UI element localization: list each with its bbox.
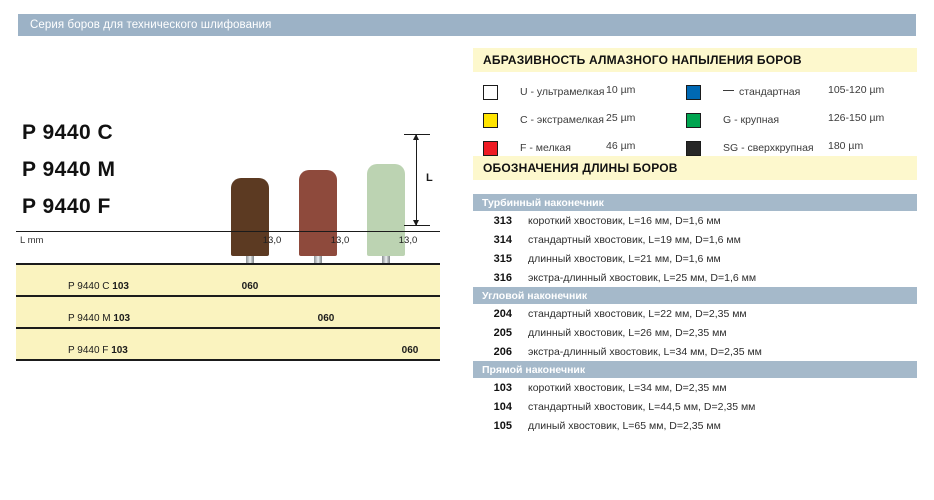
code-prefix: P 9440 F: [68, 345, 108, 356]
lengths-row-code: 103: [482, 382, 528, 394]
dimension-label: L: [426, 172, 433, 184]
lengths-row-description: короткий хвостовик, L=34 мм, D=2,35 мм: [528, 382, 727, 394]
lengths-row-description: экстра-длинный хвостовик, L=34 мм, D=2,3…: [528, 346, 762, 358]
table-row: P 9440 F 103 060: [16, 329, 440, 361]
color-swatch-c: [483, 113, 498, 128]
code-suffix: 103: [112, 281, 129, 292]
lengths-row: 103короткий хвостовик, L=34 мм, D=2,35 м…: [473, 378, 917, 397]
lengths-row: 314стандартный хвостовик, L=19 мм, D=1,6…: [473, 230, 917, 249]
table-row-size-m: 060: [304, 313, 348, 324]
legend-value-g: 126-150 µm: [828, 112, 884, 124]
legend-label-standard-text: стандартная: [739, 86, 800, 98]
dimension-line: [416, 134, 417, 226]
lengths-title: ОБОЗНАЧЕНИЯ ДЛИНЫ БОРОВ: [473, 156, 917, 180]
lengths-row-description: длиный хвостовик, L=65 мм, D=2,35 мм: [528, 420, 721, 432]
lengths-row-code: 314: [482, 234, 528, 246]
color-swatch-f: [483, 141, 498, 156]
legend-item-standard: стандартная: [686, 84, 800, 100]
lengths-table: Турбинный наконечник313короткий хвостови…: [473, 194, 917, 435]
lengths-row-description: стандартный хвостовик, L=19 мм, D=1,6 мм: [528, 234, 741, 246]
legend-value-standard: 105-120 µm: [828, 84, 884, 96]
lengths-row: 316экстра-длинный хвостовик, L=25 мм, D=…: [473, 268, 917, 287]
lengths-group-header: Угловой наконечник: [473, 287, 917, 304]
product-code-list: P 9440 C P 9440 M P 9440 F: [22, 121, 116, 232]
bur-illustration-m: [296, 170, 340, 278]
table-row: P 9440 C 103 060: [16, 265, 440, 297]
table-row: P 9440 M 103 060: [16, 297, 440, 329]
abrasiveness-legend: U - ультрамелкая 10 µm C - экстрамелкая …: [473, 84, 917, 156]
lengths-group-header: Прямой наконечник: [473, 361, 917, 378]
code-suffix: 103: [111, 345, 128, 356]
legend-value-c: 25 µm: [606, 112, 635, 124]
legend-label-standard: стандартная: [723, 86, 800, 98]
lengths-row-description: стандартный хвостовик, L=22 мм, D=2,35 м…: [528, 308, 747, 320]
length-value-c: 13,0: [250, 235, 294, 246]
bur-illustration-f: [364, 164, 408, 278]
product-panel: P 9440 C P 9440 M P 9440 F L L mm 13,0 1…: [0, 45, 455, 465]
code-suffix: 103: [113, 313, 130, 324]
legend-item-c: C - экстрамелкая: [483, 112, 604, 128]
product-code-m: P 9440 M: [22, 158, 116, 182]
table-row-code-c: P 9440 C 103: [68, 281, 129, 292]
bur-illustrations: [228, 130, 428, 278]
lengths-row: 315длинный хвостовик, L=21 мм, D=1,6 мм: [473, 249, 917, 268]
product-code-f: P 9440 F: [22, 195, 116, 219]
product-code-c: P 9440 C: [22, 121, 116, 145]
length-unit-label: L mm: [20, 235, 43, 246]
lengths-row: 105длиный хвостовик, L=65 мм, D=2,35 мм: [473, 416, 917, 435]
code-prefix: P 9440 M: [68, 313, 111, 324]
lengths-row: 313короткий хвостовик, L=16 мм, D=1,6 мм: [473, 211, 917, 230]
table-row-size-c: 060: [228, 281, 272, 292]
lengths-row-code: 205: [482, 327, 528, 339]
lengths-row-code: 204: [482, 308, 528, 320]
page-title-bar: Серия боров для технического шлифования: [18, 14, 916, 36]
lengths-row: 205длинный хвостовик, L=26 мм, D=2,35 мм: [473, 323, 917, 342]
legend-label-u: U - ультрамелкая: [520, 86, 604, 98]
legend-label-sg: SG - сверхкрупная: [723, 142, 814, 154]
color-swatch-standard: [686, 85, 701, 100]
lengths-row-description: короткий хвостовик, L=16 мм, D=1,6 мм: [528, 215, 721, 227]
length-value-m: 13,0: [318, 235, 362, 246]
legend-label-g: G - крупная: [723, 114, 779, 126]
lengths-group-header: Турбинный наконечник: [473, 194, 917, 211]
table-row-code-f: P 9440 F 103: [68, 345, 128, 356]
lengths-row-description: длинный хвостовик, L=26 мм, D=2,35 мм: [528, 327, 727, 339]
dash-icon: [723, 90, 734, 91]
legend-item-f: F - мелкая: [483, 140, 571, 156]
dimension-arrow-down-icon: [413, 220, 419, 226]
length-dimension-indicator: L: [404, 130, 444, 230]
code-prefix: P 9440 C: [68, 281, 110, 292]
lengths-row-code: 105: [482, 420, 528, 432]
lengths-row-description: длинный хвостовик, L=21 мм, D=1,6 мм: [528, 253, 721, 265]
length-value-f: 13,0: [386, 235, 430, 246]
dimension-arrow-up-icon: [413, 134, 419, 140]
table-row-code-m: P 9440 M 103: [68, 313, 130, 324]
color-swatch-u: [483, 85, 498, 100]
legend-value-u: 10 µm: [606, 84, 635, 96]
lengths-row-code: 315: [482, 253, 528, 265]
reference-panel: АБРАЗИВНОСТЬ АЛМАЗНОГО НАПЫЛЕНИЯ БОРОВ U…: [473, 48, 917, 435]
legend-item-u: U - ультрамелкая: [483, 84, 604, 100]
lengths-row-code: 313: [482, 215, 528, 227]
table-row-size-f: 060: [388, 345, 432, 356]
lengths-row-code: 104: [482, 401, 528, 413]
lengths-row: 206экстра-длинный хвостовик, L=34 мм, D=…: [473, 342, 917, 361]
length-measurement-row: L mm 13,0 13,0 13,0: [16, 231, 440, 250]
color-swatch-g: [686, 113, 701, 128]
legend-value-f: 46 µm: [606, 140, 635, 152]
legend-label-f: F - мелкая: [520, 142, 571, 154]
lengths-row: 104стандартный хвостовик, L=44,5 мм, D=2…: [473, 397, 917, 416]
legend-value-sg: 180 µm: [828, 140, 863, 152]
lengths-row: 204стандартный хвостовик, L=22 мм, D=2,3…: [473, 304, 917, 323]
page-title: Серия боров для технического шлифования: [18, 19, 271, 31]
legend-label-c: C - экстрамелкая: [520, 114, 604, 126]
color-swatch-sg: [686, 141, 701, 156]
lengths-row-description: стандартный хвостовик, L=44,5 мм, D=2,35…: [528, 401, 755, 413]
abrasiveness-title: АБРАЗИВНОСТЬ АЛМАЗНОГО НАПЫЛЕНИЯ БОРОВ: [473, 48, 917, 72]
legend-item-g: G - крупная: [686, 112, 779, 128]
product-table: P 9440 C 103 060 P 9440 M 103 060 P 9440…: [16, 263, 440, 361]
lengths-row-description: экстра-длинный хвостовик, L=25 мм, D=1,6…: [528, 272, 756, 284]
lengths-row-code: 206: [482, 346, 528, 358]
legend-item-sg: SG - сверхкрупная: [686, 140, 814, 156]
lengths-row-code: 316: [482, 272, 528, 284]
